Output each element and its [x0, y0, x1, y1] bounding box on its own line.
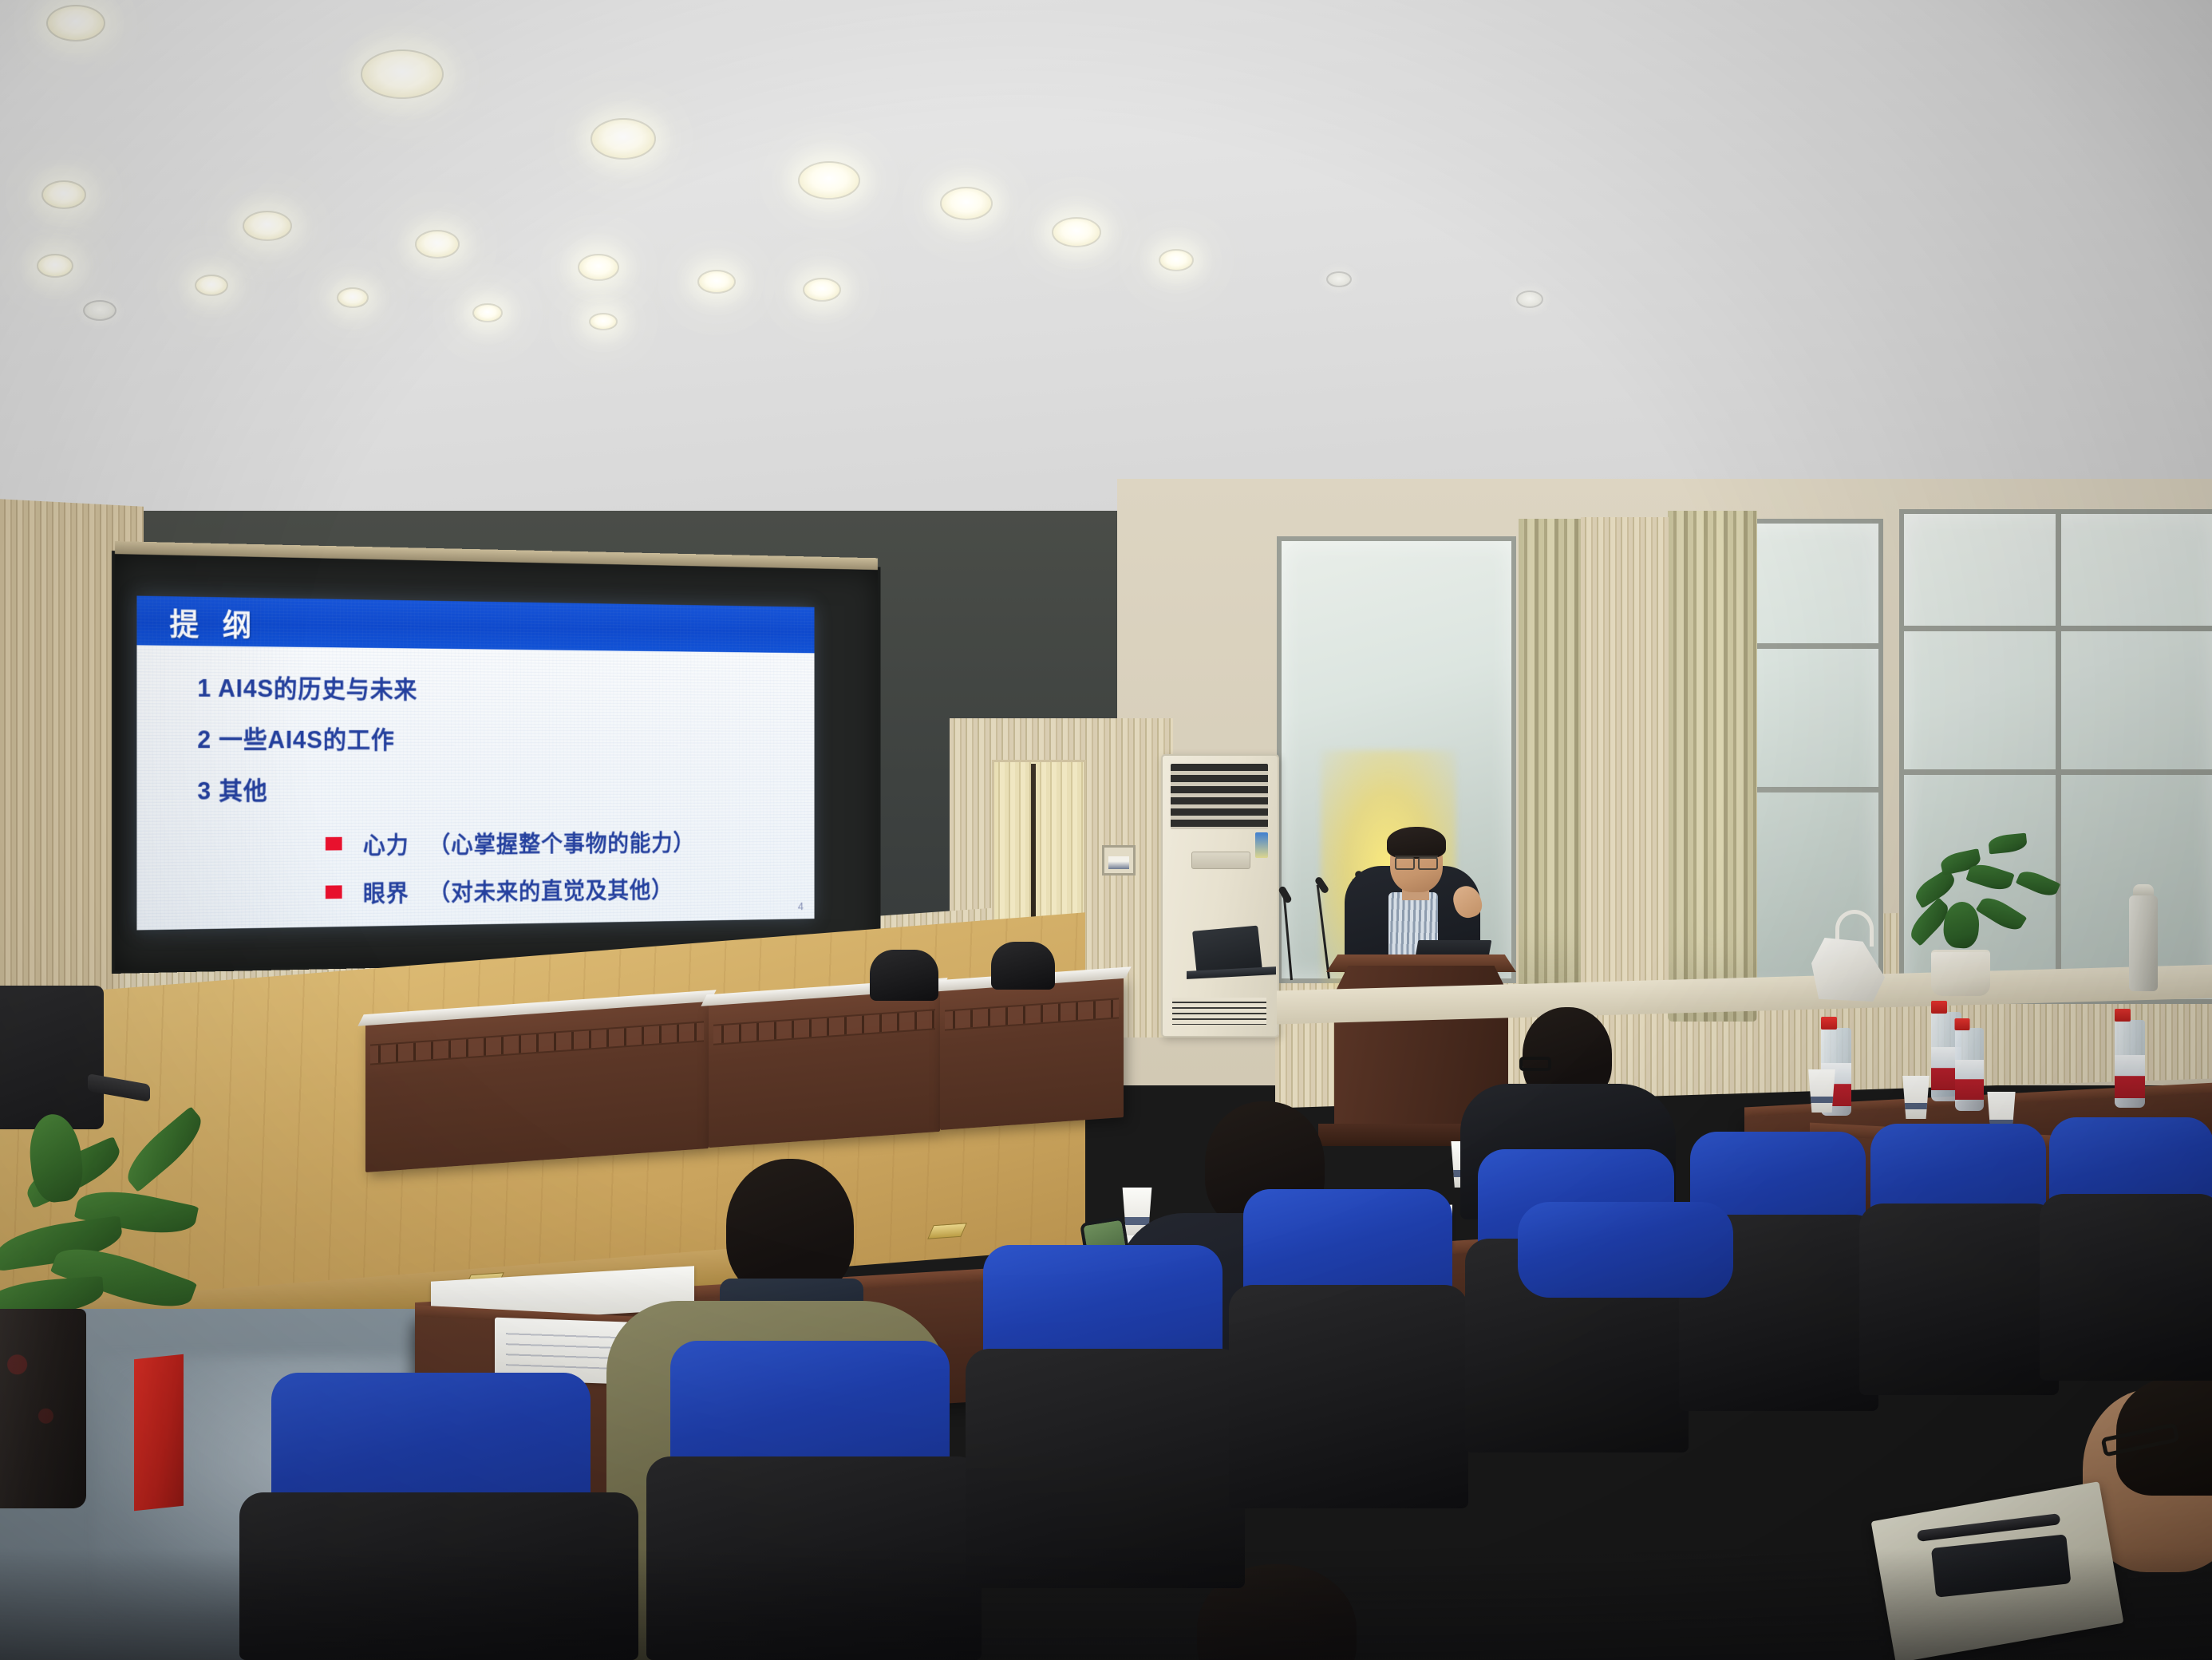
slide-outline-item-2: 2 一些AI4S的工作	[197, 719, 814, 755]
speaker-glasses	[1395, 856, 1438, 865]
audience-chair[interactable]	[966, 1245, 1245, 1588]
ac-intake-vent	[1172, 998, 1266, 1025]
cup-band	[1809, 1097, 1835, 1104]
audience-chair[interactable]	[239, 1373, 638, 1660]
curtain-right	[1668, 511, 1757, 1022]
slide-bullet-note-3-blurred-tail: 规律及其他）	[651, 915, 780, 930]
slide-bullet-row: 眼界 （对未来的直觉及其他）	[326, 869, 815, 909]
ceiling	[0, 0, 2212, 559]
slide-bullet-row: 心力 （心掌握整个事物的能力）	[326, 823, 815, 860]
conference-room-scene: 提 纲 1 AI4S的历史与未来 2 一些AI4S的工作 3 其他 心力 （心掌…	[0, 0, 2212, 1660]
bottle-cap	[1955, 1018, 1970, 1030]
slide-body: 1 AI4S的历史与未来 2 一些AI4S的工作 3 其他 心力 （心掌握整个事…	[136, 645, 814, 930]
slide-bullet-term-1: 心力	[363, 826, 409, 860]
slide-title-banner: 提 纲	[136, 596, 814, 654]
ceiling-light	[415, 230, 460, 259]
chair-shell	[966, 1349, 1245, 1588]
chair-shell	[239, 1492, 638, 1660]
ceiling-light	[37, 254, 73, 278]
ceiling-light	[798, 161, 860, 200]
slide-bullet-term-3: 知识	[363, 922, 409, 931]
stage-chair[interactable]	[991, 942, 1055, 990]
stage-chair-back	[991, 942, 1055, 990]
chair-shell	[1859, 1203, 2059, 1395]
head-table-left	[365, 1000, 709, 1172]
audience-chair[interactable]	[2040, 1117, 2212, 1381]
thermos-flask	[2129, 895, 2158, 991]
ceiling-light	[472, 303, 503, 322]
chair-shell	[2040, 1194, 2212, 1381]
ac-control-panel[interactable]	[1191, 852, 1250, 869]
square-bullet-icon	[326, 885, 342, 899]
ceiling-light	[243, 211, 292, 241]
plant-pot	[1931, 950, 1990, 996]
stage-chair-back	[870, 950, 938, 1001]
slide-bullet-term-2: 眼界	[363, 874, 409, 909]
column-slat-panel	[1581, 517, 1669, 1012]
attendee-head	[726, 1159, 854, 1298]
projection-screen: 提 纲 1 AI4S的历史与未来 2 一些AI4S的工作 3 其他 心力 （心掌…	[112, 551, 880, 974]
smartphone-on-notebook[interactable]	[1931, 1534, 2072, 1597]
stage-chair[interactable]	[870, 950, 938, 1001]
ceiling-light	[591, 118, 656, 160]
slide-bullet-row: 知识 （现有物理、社会运行 规律及其他）	[326, 915, 815, 930]
ceiling-light	[589, 313, 618, 330]
ceiling-light	[940, 187, 993, 220]
ceiling-light-off	[1516, 290, 1543, 308]
decorative-planter	[0, 1309, 86, 1508]
square-bullet-icon	[326, 836, 342, 850]
ceiling-light	[46, 5, 105, 41]
bottle-label	[2115, 1055, 2145, 1098]
audience-chair-rear[interactable]	[1518, 1202, 1733, 1298]
ceiling-light	[195, 275, 228, 296]
ceiling-light	[41, 180, 86, 209]
slide-outline-item-1: 1 AI4S的历史与未来	[197, 668, 814, 707]
ceiling-light	[697, 270, 736, 294]
ceiling-light	[361, 49, 444, 99]
audience-chair[interactable]	[1859, 1124, 2059, 1395]
slide-outline-item-3: 3 其他	[197, 770, 814, 806]
water-bottle[interactable]	[2115, 1020, 2145, 1108]
breaker-switch	[1108, 856, 1129, 869]
slide-bullet-note-2: （对未来的直觉及其他）	[429, 871, 673, 907]
ceiling-light	[1159, 249, 1194, 271]
head-table-right	[940, 977, 1124, 1130]
bottle-cap	[1931, 1001, 1947, 1014]
air-conditioner-unit[interactable]	[1161, 754, 1279, 1037]
curtain-left	[1519, 519, 1581, 1006]
slide-bullet-note-3: （现有物理、社会运行	[429, 918, 652, 931]
side-office-chair[interactable]	[0, 986, 104, 1129]
red-standing-box	[134, 1354, 184, 1512]
slide-title: 提 纲	[169, 599, 259, 644]
bottle-cap	[1821, 1017, 1837, 1030]
head-table-carved-trim	[370, 1021, 704, 1065]
head-table-carved-trim	[713, 1009, 935, 1045]
audience-chair[interactable]	[1229, 1189, 1468, 1508]
ac-energy-label	[1255, 832, 1268, 858]
cup-band	[1903, 1103, 1929, 1110]
head-table-center	[709, 988, 940, 1148]
ceiling-light	[337, 287, 369, 308]
slide-page-number: 4	[798, 900, 804, 913]
ceiling-light	[578, 254, 619, 281]
ceiling-light	[1052, 217, 1101, 247]
bottle-label	[1955, 1060, 1984, 1100]
bottle-cap	[2115, 1009, 2131, 1022]
speaker-hair	[1387, 827, 1446, 859]
chair-shell	[1229, 1285, 1468, 1508]
ceiling-light	[803, 278, 841, 302]
ac-vent-grille	[1171, 764, 1268, 829]
chair-cushion	[1518, 1202, 1733, 1298]
breaker-panel	[1102, 845, 1136, 875]
chair-shell	[646, 1456, 982, 1660]
water-bottle[interactable]	[1955, 1028, 1984, 1111]
audience-chair[interactable]	[1465, 1149, 1689, 1452]
audience-chair[interactable]	[646, 1341, 982, 1660]
slide-bullet-note-1: （心掌握整个事物的能力）	[429, 824, 695, 860]
presentation-slide: 提 纲 1 AI4S的历史与未来 2 一些AI4S的工作 3 其他 心力 （心掌…	[136, 596, 814, 931]
ceiling-light-off	[83, 300, 117, 321]
ceiling-light-off	[1326, 271, 1352, 287]
head-table-carved-trim	[945, 998, 1119, 1030]
attendee-glasses-frame	[1519, 1057, 1551, 1071]
